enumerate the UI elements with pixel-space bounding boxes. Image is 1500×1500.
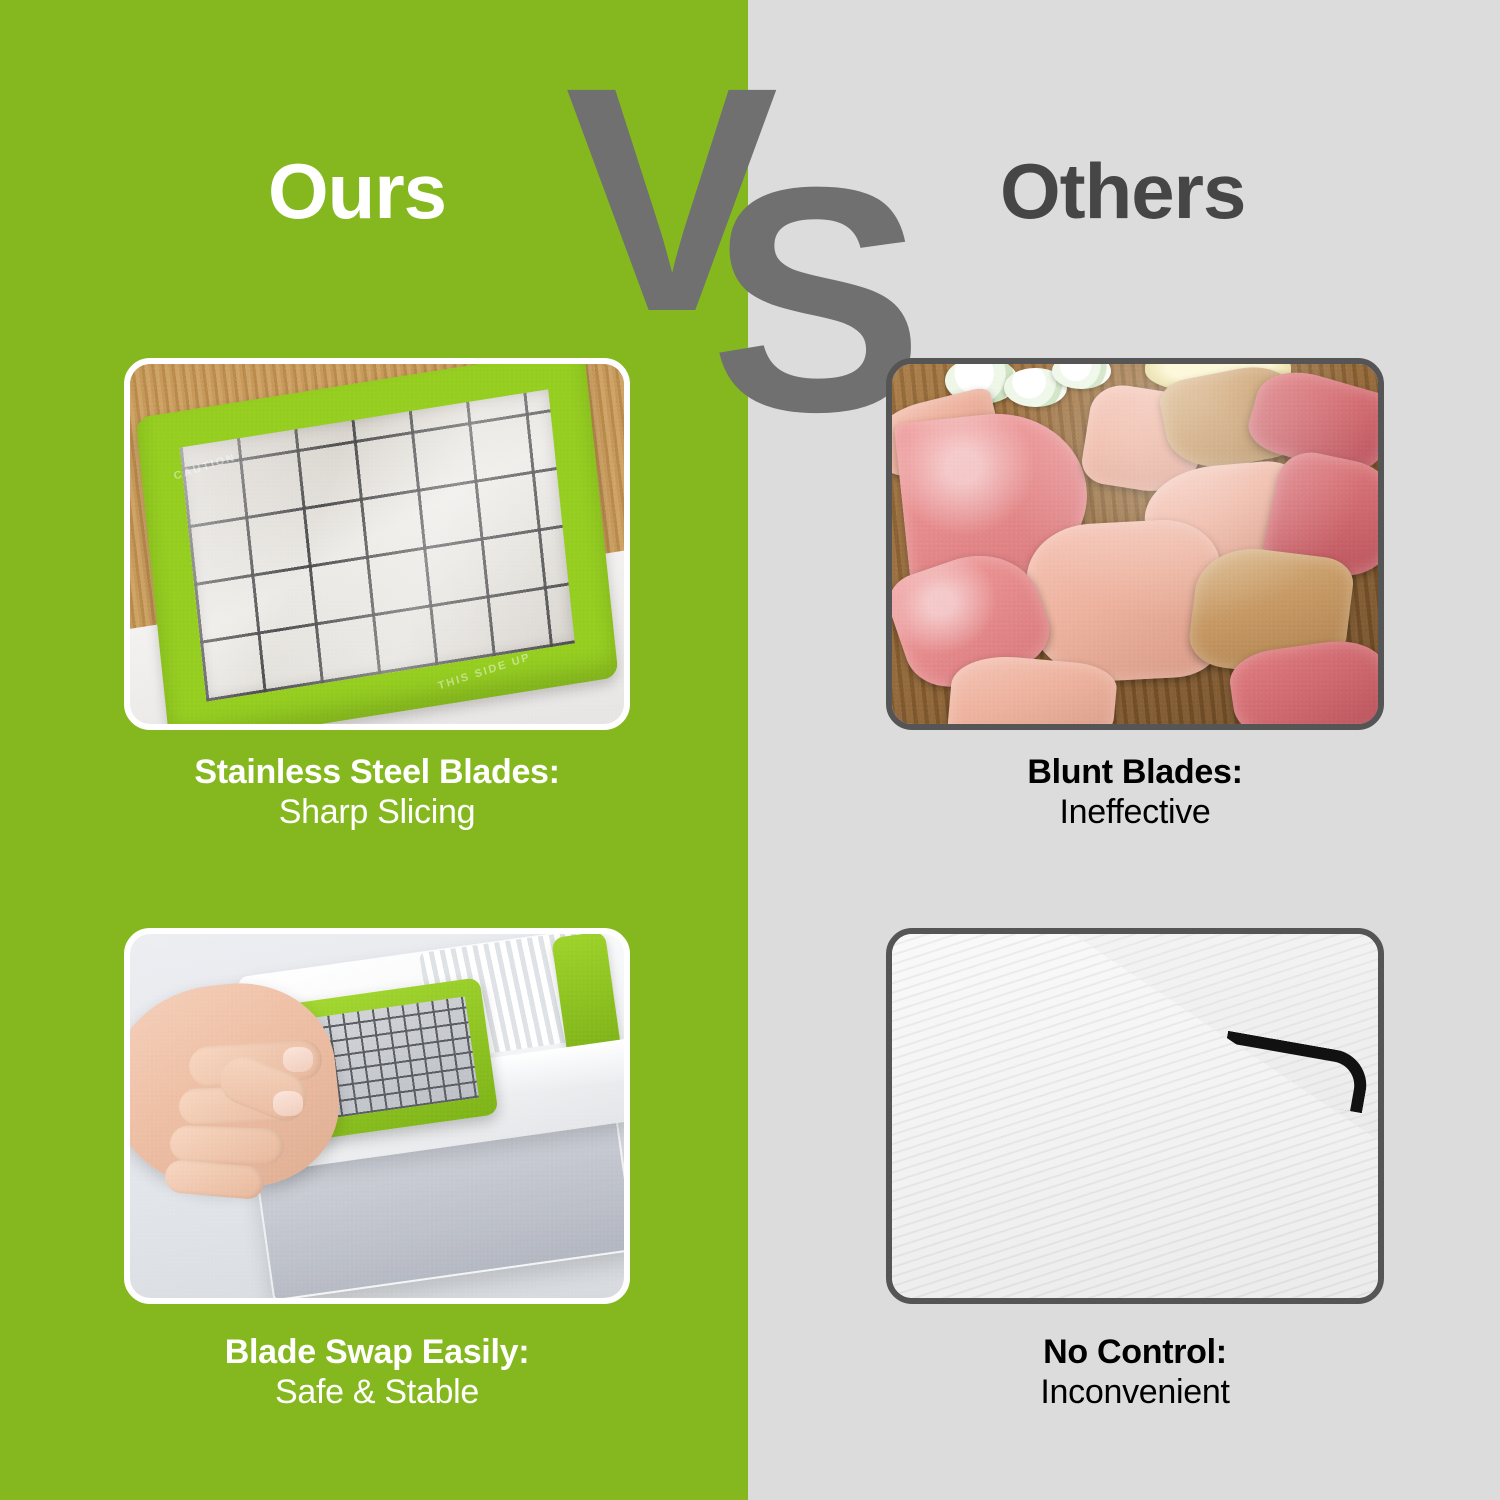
ours-blades-caption: Stainless Steel Blades: Sharp Slicing: [124, 752, 630, 832]
ours-swap-photo: [130, 934, 624, 1298]
ours-blades-photo-frame: CAUTION THIS SIDE UP: [124, 358, 630, 730]
others-no-control-caption-title: No Control:: [886, 1332, 1384, 1372]
others-no-control-caption: No Control: Inconvenient: [886, 1332, 1384, 1412]
ours-blades-photo: CAUTION THIS SIDE UP: [130, 364, 624, 724]
ours-card-swap: [124, 928, 630, 1304]
ours-swap-photo-frame: [124, 928, 630, 1304]
others-blunt-caption: Blunt Blades: Ineffective: [886, 752, 1384, 832]
others-no-control-photo-frame: [886, 928, 1384, 1304]
others-card-no-control: [886, 928, 1384, 1304]
others-blunt-photo: [892, 364, 1378, 724]
ours-heading: Ours: [268, 152, 446, 230]
others-card-blunt: [886, 358, 1384, 730]
fingernail: [283, 1047, 313, 1072]
ring-finger: [169, 1125, 284, 1165]
others-blunt-photo-frame: [886, 358, 1384, 730]
others-no-control-photo: [892, 934, 1378, 1298]
green-dicer-insert: CAUTION THIS SIDE UP: [135, 364, 619, 724]
ours-blades-caption-title: Stainless Steel Blades:: [124, 752, 630, 792]
ours-blades-caption-subtitle: Sharp Slicing: [124, 792, 630, 832]
ours-swap-caption: Blade Swap Easily: Safe & Stable: [124, 1332, 630, 1412]
ours-swap-caption-title: Blade Swap Easily:: [124, 1332, 630, 1372]
others-heading: Others: [1000, 152, 1245, 230]
ours-card-blades: CAUTION THIS SIDE UP: [124, 358, 630, 730]
others-blunt-caption-subtitle: Ineffective: [886, 792, 1384, 832]
fingernail: [273, 1091, 303, 1116]
infographic-canvas: Ours Others V S: [0, 0, 1500, 1500]
others-no-control-caption-subtitle: Inconvenient: [886, 1372, 1384, 1412]
ours-swap-caption-subtitle: Safe & Stable: [124, 1372, 630, 1412]
others-blunt-caption-title: Blunt Blades:: [886, 752, 1384, 792]
little-finger: [163, 1159, 264, 1200]
